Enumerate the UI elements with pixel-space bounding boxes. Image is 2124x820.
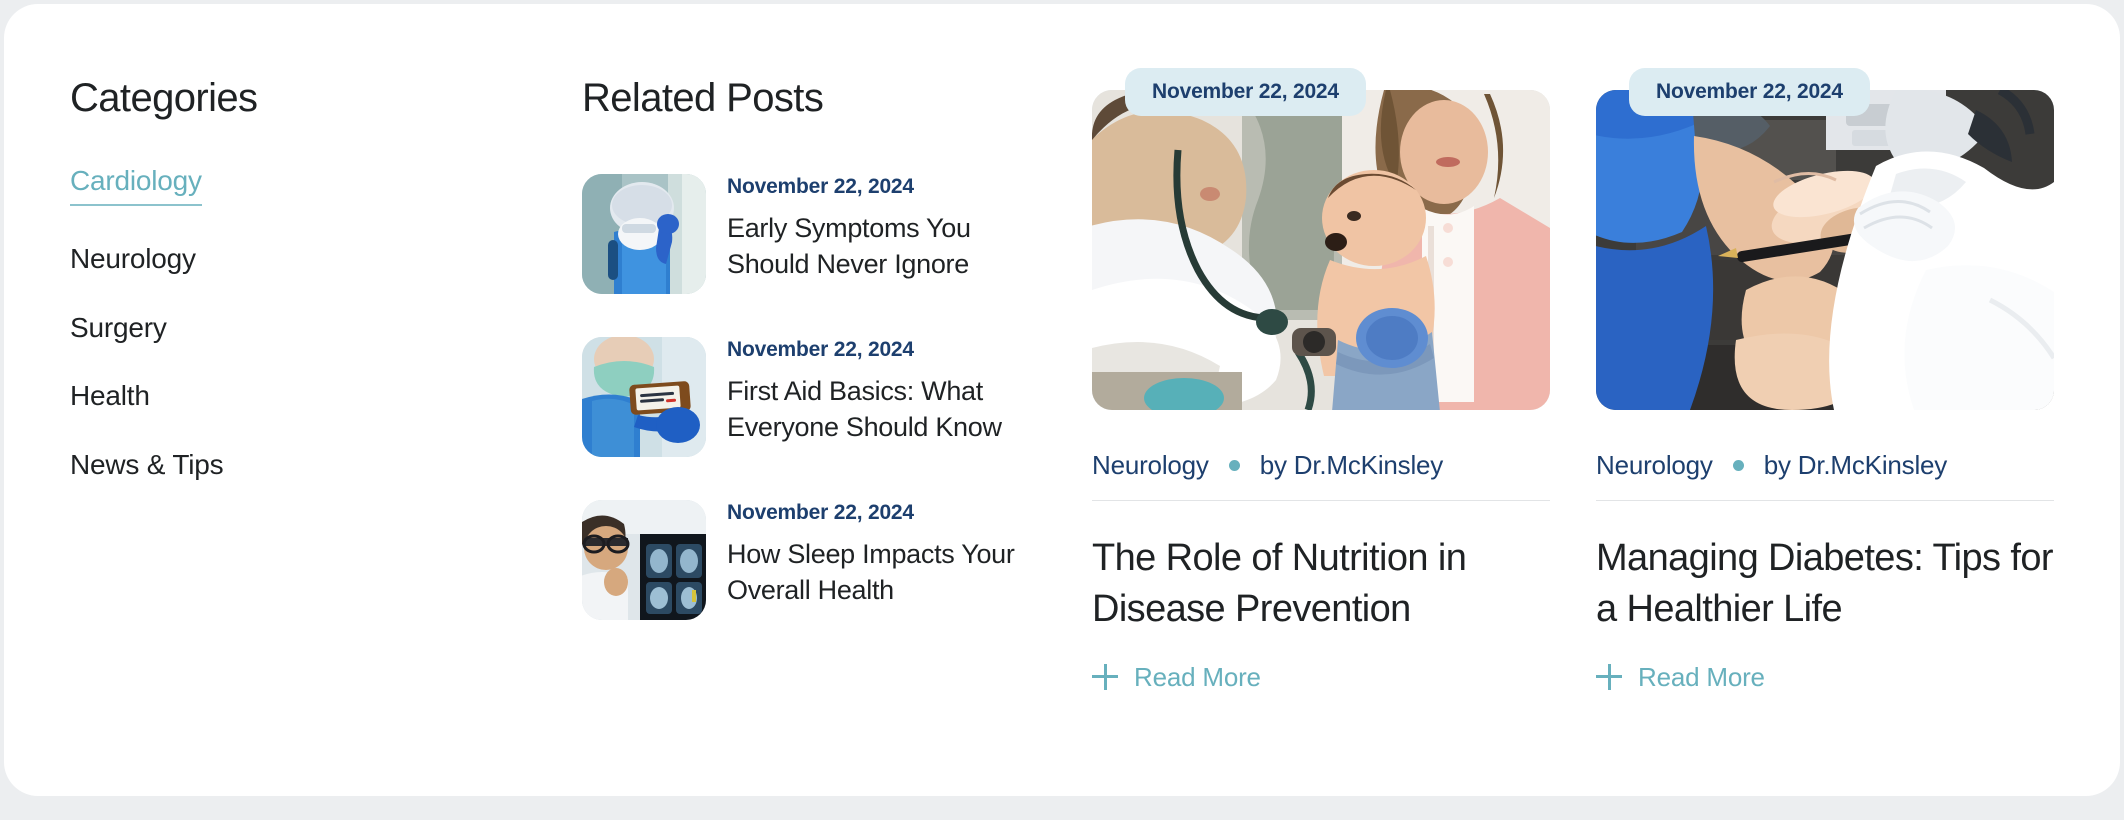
related-post-date: November 22, 2024 <box>727 339 1027 360</box>
read-more-link[interactable]: Read More <box>1596 664 1765 690</box>
related-post-title[interactable]: First Aid Basics: What Everyone Should K… <box>727 374 1027 445</box>
card-author[interactable]: by Dr.McKinsley <box>1260 452 1443 478</box>
card-author[interactable]: by Dr.McKinsley <box>1764 452 1947 478</box>
plus-icon <box>1092 664 1118 690</box>
doctor-examining-patient-foot-photo[interactable] <box>1596 90 2054 410</box>
post-card: November 22, 2024 <box>1596 90 2054 690</box>
related-posts-section: Related Posts <box>582 74 1042 663</box>
related-post-title[interactable]: Early Symptoms You Should Never Ignore <box>727 211 1027 282</box>
card-date-badge: November 22, 2024 <box>1125 68 1366 116</box>
card-title[interactable]: Managing Diabetes: Tips for a Healthier … <box>1596 533 2054 634</box>
card-meta: Neurology by Dr.McKinsley <box>1596 452 2054 501</box>
sidebar-item-news-tips[interactable]: News & Tips <box>70 450 223 481</box>
read-more-link[interactable]: Read More <box>1092 664 1261 690</box>
categories-section: Categories Cardiology Neurology Surgery … <box>70 74 370 519</box>
related-post-text: November 22, 2024 How Sleep Impacts Your… <box>727 500 1027 620</box>
meta-separator-dot-icon <box>1733 460 1744 471</box>
read-more-label: Read More <box>1638 664 1765 690</box>
sidebar-item-neurology[interactable]: Neurology <box>70 244 196 275</box>
related-post-item[interactable]: November 22, 2024 First Aid Basics: What… <box>582 337 1042 457</box>
card-title[interactable]: The Role of Nutrition in Disease Prevent… <box>1092 533 1550 634</box>
categories-heading: Categories <box>70 74 370 122</box>
post-cards-row: November 22, 2024 <box>1092 90 2054 690</box>
related-posts-list: November 22, 2024 Early Symptoms You Sho… <box>582 174 1042 620</box>
doctor-reviewing-brain-scan-photo <box>582 500 706 620</box>
pediatrician-examining-baby-photo[interactable] <box>1092 90 1550 410</box>
nurse-in-scrubs-photo <box>582 174 706 294</box>
related-post-text: November 22, 2024 First Aid Basics: What… <box>727 337 1027 457</box>
meta-separator-dot-icon <box>1229 460 1240 471</box>
sidebar-item-health[interactable]: Health <box>70 381 150 412</box>
sidebar-item-surgery[interactable]: Surgery <box>70 313 167 344</box>
related-post-date: November 22, 2024 <box>727 502 1027 523</box>
related-post-item[interactable]: November 22, 2024 How Sleep Impacts Your… <box>582 500 1042 620</box>
plus-icon <box>1596 664 1622 690</box>
related-post-text: November 22, 2024 Early Symptoms You Sho… <box>727 174 1027 294</box>
categories-list: Cardiology Neurology Surgery Health News… <box>70 166 370 481</box>
related-post-date: November 22, 2024 <box>727 176 1027 197</box>
card-date-badge: November 22, 2024 <box>1629 68 1870 116</box>
card-category[interactable]: Neurology <box>1092 452 1209 478</box>
read-more-label: Read More <box>1134 664 1261 690</box>
content-panel: Categories Cardiology Neurology Surgery … <box>4 4 2120 796</box>
sidebar-item-cardiology[interactable]: Cardiology <box>70 166 202 206</box>
related-post-title[interactable]: How Sleep Impacts Your Overall Health <box>727 537 1027 608</box>
doctor-holding-vaccine-vial-photo <box>582 337 706 457</box>
related-posts-heading: Related Posts <box>582 74 1042 122</box>
card-category[interactable]: Neurology <box>1596 452 1713 478</box>
related-post-item[interactable]: November 22, 2024 Early Symptoms You Sho… <box>582 174 1042 294</box>
post-card: November 22, 2024 <box>1092 90 1550 690</box>
card-meta: Neurology by Dr.McKinsley <box>1092 452 1550 501</box>
